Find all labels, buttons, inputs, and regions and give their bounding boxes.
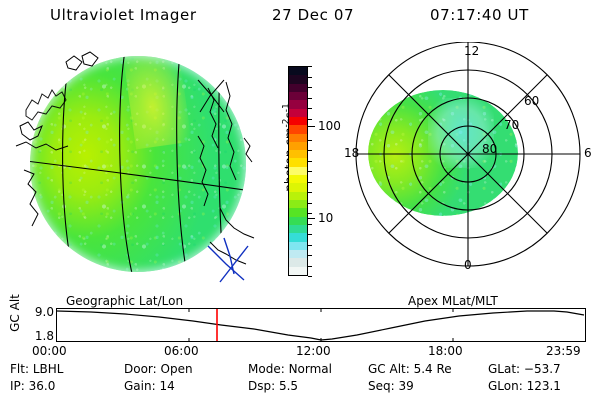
colorbar-minor-tick [308,98,312,99]
status-field-glon: GLon: 123.1 [488,379,561,393]
colorbar-band [289,225,307,233]
geographic-image-panel[interactable] [12,42,262,292]
mlt-label-0: 0 [464,258,472,272]
header-bar: Ultraviolet Imager 27 Dec 07 07:17:40 UT [0,6,600,32]
colorbar-ticks: 10100 [308,66,342,276]
colorbar-minor-tick [308,161,312,162]
polar-panel-title: Apex MLat/MLT [408,294,498,308]
status-field-flt: Flt: LBHL [10,362,63,376]
status-value: 36.0 [29,379,56,393]
time-tick-0000: 00:00 [32,344,67,358]
colorbar-band [289,117,307,125]
colorbar-minor-tick [308,171,312,172]
page-title: Ultraviolet Imager [50,6,197,24]
status-key: GLon: [488,379,527,393]
time-tick-0600: 06:00 [164,344,199,358]
mlat-label-80: 80 [482,142,497,156]
time-tick-1200: 12:00 [296,344,331,358]
colorbar-major-tick [308,126,315,127]
colorbar-band [289,100,307,108]
colorbar-band [289,192,307,200]
status-field-gcalt: GC Alt: 5.4 Re [368,362,452,376]
colorbar-band [289,200,307,208]
orbit-altitude-strip[interactable]: Geographic Lat/Lon Apex MLat/MLT GC Alt … [0,294,600,350]
status-field-seq: Seq: 39 [368,379,414,393]
colorbar-band [289,142,307,150]
time-tick-2359: 23:59 [546,344,581,358]
colorbar-band [289,67,307,75]
status-key: Dsp: [248,379,279,393]
altitude-plot-area[interactable] [56,308,586,342]
status-field-ip: IP: 36.0 [10,379,55,393]
polar-grid-overlay [346,42,596,292]
colorbar-band [289,258,307,266]
status-field-dsp: Dsp: 5.5 [248,379,298,393]
altitude-axis-label: GC Alt [8,284,22,342]
altitude-tick-min: 1.8 [35,330,54,342]
colorbar-band [289,175,307,183]
status-key: GC Alt: [368,362,414,376]
geographic-panel-title: Geographic Lat/Lon [66,294,183,308]
colorbar-band [289,233,307,241]
colorbar-band [289,208,307,216]
colorbar-band [289,242,307,250]
status-field-glat: GLat: −53.7 [488,362,561,376]
colorbar-minor-tick [308,224,312,225]
colorbar-minor-tick [308,182,312,183]
status-panel: Flt: LBHLDoor: OpenMode: NormalGC Alt: 5… [0,362,600,400]
altitude-tick-max: 9.0 [35,306,54,318]
mlat-label-70: 70 [504,118,519,132]
colorbar-band [289,158,307,166]
status-value: Normal [289,362,332,376]
geographic-grid-overlay [12,42,262,292]
colorbar-minor-tick [308,77,312,78]
colorbar-tick-label: 10 [318,212,333,224]
colorbar-band [289,267,307,275]
colorbar-tick-label: 100 [318,120,341,132]
colorbar-band [289,109,307,117]
colorbar-gradient[interactable] [288,66,308,276]
colorbar-minor-tick [308,203,312,204]
status-value: Open [161,362,193,376]
uv-imager-display: Ultraviolet Imager 27 Dec 07 07:17:40 UT [0,0,600,400]
status-value: 5.4 Re [414,362,452,376]
colorbar-band [289,134,307,142]
colorbar-band [289,217,307,225]
status-value: −53.7 [524,362,561,376]
status-field-door: Door: Open [124,362,193,376]
status-value: LBHL [33,362,64,376]
colorbar-band [289,75,307,83]
status-value: 5.5 [279,379,298,393]
colorbar-minor-tick [308,213,312,214]
altitude-curve [57,309,585,341]
polar-plot-panel[interactable]: 12 18 6 0 60 70 80 [346,42,596,292]
observation-time: 07:17:40 UT [430,6,529,24]
status-key: Mode: [248,362,289,376]
colorbar-minor-tick [308,192,312,193]
status-key: Seq: [368,379,398,393]
colorbar-minor-tick [308,119,312,120]
colorbar-minor-tick [308,255,312,256]
status-field-gain: Gain: 14 [124,379,175,393]
mlt-label-12: 12 [464,44,479,58]
colorbar-minor-tick [308,245,312,246]
colorbar-band [289,167,307,175]
observation-date: 27 Dec 07 [272,6,354,24]
colorbar-band [289,125,307,133]
colorbar-band [289,84,307,92]
colorbar-minor-tick [308,66,312,67]
time-axis-labels: 00:00 06:00 12:00 18:00 23:59 [0,344,600,360]
status-key: GLat: [488,362,524,376]
status-key: IP: [10,379,29,393]
mlat-label-60: 60 [524,94,539,108]
status-value: 14 [159,379,174,393]
status-value: 123.1 [527,379,561,393]
colorbar-band [289,92,307,100]
status-key: Flt: [10,362,33,376]
colorbar-minor-tick [308,234,312,235]
colorbar-minor-tick [308,150,312,151]
colorbar-panel: photon cm-2s-1 10100 [266,44,342,292]
status-key: Door: [124,362,161,376]
colorbar-minor-tick [308,276,312,277]
status-value: 39 [398,379,413,393]
colorbar-minor-tick [308,108,312,109]
status-field-mode: Mode: Normal [248,362,332,376]
mlt-label-6: 6 [584,146,592,160]
colorbar-minor-tick [308,87,312,88]
colorbar-band [289,183,307,191]
mlt-label-18: 18 [344,146,359,160]
altitude-tick-labels: 9.0 1.8 [26,308,54,342]
colorbar-minor-tick [308,140,312,141]
time-tick-1800: 18:00 [428,344,463,358]
status-key: Gain: [124,379,159,393]
colorbar-band [289,150,307,158]
colorbar-major-tick [308,218,315,219]
colorbar-band [289,250,307,258]
colorbar-minor-tick [308,266,312,267]
